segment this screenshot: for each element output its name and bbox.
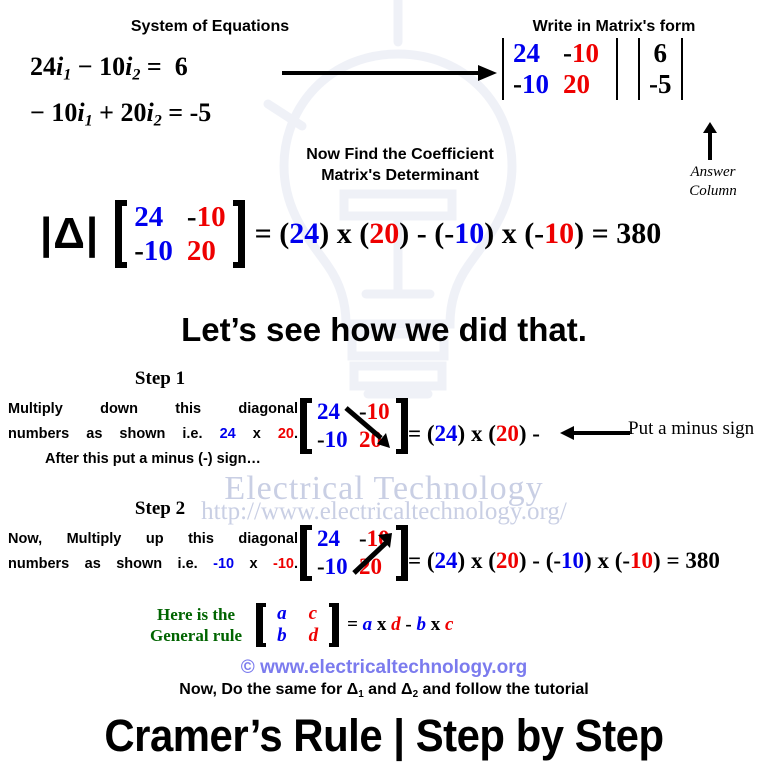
answer-column: 6 -5 [642, 38, 679, 100]
s1-trailing-minus: - [532, 421, 540, 446]
bracket-left [300, 525, 312, 581]
cell-a11: 24 [312, 525, 354, 553]
s1-term2: (20) [488, 421, 526, 446]
step1-line2: numbers as shown i.e. 24 x 20. [8, 422, 298, 447]
eq2-var2: i [146, 98, 153, 127]
s2-term2: (20) [488, 548, 526, 573]
matrix-row: 6 [642, 38, 679, 69]
cell-a22: 20 [354, 553, 396, 581]
coefficient-matrix-top: 24 -10 -10 20 [506, 38, 606, 100]
s2-term4: (-10) [615, 548, 661, 573]
general-rule-label: Here is the General rule [150, 604, 242, 646]
arrow-left-icon [560, 425, 630, 441]
gr-b: b [416, 614, 426, 635]
determinant-matrix: 24 -10 -10 20 [127, 200, 232, 268]
cell-a12-value: 10 [572, 38, 599, 68]
s2-result: 380 [685, 548, 720, 573]
cell-a12: -10 [180, 200, 233, 234]
general-rule-label-line1: Here is the [157, 605, 235, 624]
cell-a12: -10 [556, 38, 606, 69]
s2-term3: (-10) [546, 548, 592, 573]
gr-equals: = [347, 614, 358, 635]
expr-equals2: = [592, 217, 609, 250]
general-rule-group: Here is the General rule a c b d = a x d… [150, 603, 453, 647]
s1-times: x [471, 421, 483, 446]
cell-a12: -10 [354, 525, 396, 553]
expr-term1: (24) [279, 217, 329, 250]
s1-term1: (24) [427, 421, 465, 446]
matrix-row: -10 20 [127, 234, 232, 268]
expr-equals: = [255, 217, 272, 250]
bracket-right [396, 525, 408, 581]
answer-column-label: Answer Column [658, 163, 768, 201]
eq1-coeff1: 24 [30, 52, 56, 81]
cell-a11: 24 [127, 200, 180, 234]
matrix-row: -10 20 [312, 553, 396, 581]
s2-term1: (24) [427, 548, 465, 573]
matrix-row: -10 20 [312, 426, 396, 454]
bracket-left [300, 398, 312, 454]
cell-a21: -10 [127, 234, 180, 268]
infographic-canvas: Electrical Technology http://www.electri… [0, 0, 768, 770]
answer-b2: -5 [642, 69, 679, 100]
determinant-equation: |Δ| 24 -10 -10 20 = (24) x (20) - (-10) … [40, 200, 661, 268]
matrix-row: -5 [642, 69, 679, 100]
bracket-left [115, 200, 127, 268]
step1-description: Multiply down this diagonal numbers as s… [8, 397, 298, 472]
step2-title: Step 2 [40, 498, 280, 520]
expr-times1: x [337, 217, 352, 250]
answer-bar-right [681, 38, 683, 100]
cell-b: b [266, 625, 298, 647]
cell-a21: -10 [506, 69, 556, 100]
eq1-rhs: 6 [175, 52, 188, 81]
general-rule-equation: = a x d - b x c [347, 614, 453, 636]
gr-d: d [391, 614, 401, 635]
step2-line1: Now, Multiply up this diagonal [8, 527, 298, 552]
arrow-up-icon [700, 122, 720, 160]
expr-term4: (-10) [524, 217, 584, 250]
eq2-coeff2: 20 [120, 98, 146, 127]
eq2-coeff1: 10 [51, 98, 77, 127]
matrix-row: 24 -10 [312, 398, 396, 426]
bracket-right [329, 603, 339, 647]
eq2-lead-sign: − [30, 98, 45, 127]
expr-minus: - [417, 217, 427, 250]
s1-equals: = [408, 421, 421, 446]
step1-equation: = (24) x (20) - [408, 421, 540, 447]
eq1-equals: = [147, 52, 162, 81]
follow-note-part1: Now, Do the same for Δ [179, 681, 358, 698]
step2-line2: numbers as shown i.e. -10 x -10. [8, 552, 298, 577]
matrix-row: 24 -10 [127, 200, 232, 234]
bracket-left [256, 603, 266, 647]
matrix-row: 24 -10 [506, 38, 606, 69]
bracket-right [396, 398, 408, 454]
eq1-coeff2: 10 [99, 52, 125, 81]
find-determinant-line2: Matrix's Determinant [321, 167, 479, 184]
matrix-bar-left [502, 38, 504, 100]
cell-a21: -10 [312, 553, 354, 581]
cell-c: c [298, 603, 330, 625]
gr-a: a [363, 614, 373, 635]
step2-matrix-group: 24 -10 -10 20 [300, 525, 408, 581]
s2-times1: x [471, 548, 483, 573]
step1-title: Step 1 [40, 368, 280, 390]
general-rule-label-line2: General rule [150, 626, 242, 645]
bracket-right [233, 200, 245, 268]
eq2-var1: i [77, 98, 84, 127]
find-determinant-heading: Now Find the Coefficient Matrix's Determ… [200, 144, 600, 186]
matrix-form-group: 24 -10 -10 20 6 -5 [500, 38, 685, 100]
follow-tutorial-note: Now, Do the same for Δ1 and Δ2 and follo… [0, 681, 768, 700]
gr-c: c [445, 614, 453, 635]
eq2-rhs: -5 [190, 98, 212, 127]
eq1-operator: − [78, 52, 93, 81]
cell-a11: 24 [312, 398, 354, 426]
s2-times2: x [597, 548, 609, 573]
follow-note-part3: and follow the tutorial [418, 681, 589, 698]
system-of-equations-heading: System of Equations [0, 18, 420, 36]
cell-a22: 20 [556, 69, 606, 100]
matrix-form-heading: Write in Matrix's form [460, 18, 768, 36]
matrix-row: b d [266, 625, 329, 647]
eq2-sub1: 1 [85, 112, 93, 129]
step1-line3: After this put a minus (-) sign… [8, 447, 298, 472]
step1-matrix: 24 -10 -10 20 [312, 398, 396, 454]
matrix-bar-right [616, 38, 618, 100]
general-rule-matrix: a c b d [266, 603, 329, 647]
s2-minus: - [532, 548, 540, 573]
follow-note-part2: and Δ [364, 681, 413, 698]
eq1-sub2: 2 [132, 67, 140, 84]
step1-line1: Multiply down this diagonal [8, 397, 298, 422]
expr-times2: x [502, 217, 517, 250]
put-minus-sign-note: Put a minus sign [628, 418, 754, 440]
step2-description: Now, Multiply up this diagonal numbers a… [8, 527, 298, 577]
expr-term3: (-10) [434, 217, 494, 250]
equation-row-2: − 10i1 + 20i2 = -5 [30, 94, 330, 140]
cell-a21-value: 10 [522, 69, 549, 99]
eq1-sub1: 1 [63, 67, 71, 84]
determinant-symbol: |Δ| [40, 209, 99, 259]
cell-a11: 24 [506, 38, 556, 69]
eq2-operator: + [99, 98, 114, 127]
lets-see-heading: Let’s see how we did that. [0, 311, 768, 349]
arrow-right-icon [282, 62, 497, 84]
answer-column-label-line2: Column [689, 183, 737, 199]
page-title: Cramer’s Rule | Step by Step [27, 710, 741, 762]
step2-matrix: 24 -10 -10 20 [312, 525, 396, 581]
s2-equals2: = [666, 548, 679, 573]
expr-term2: (20) [359, 217, 409, 250]
determinant-expression: = (24) x (20) - (-10) x (-10) = 380 [255, 217, 662, 251]
answer-b1: 6 [642, 38, 679, 69]
cell-a21: -10 [312, 426, 354, 454]
expr-result: 380 [616, 217, 661, 250]
gr-minus: - [405, 614, 411, 635]
gr-times2: x [431, 614, 441, 635]
answer-column-label-line1: Answer [691, 164, 736, 180]
cell-d: d [298, 625, 330, 647]
eq2-equals: = [168, 98, 183, 127]
matrix-row: -10 20 [506, 69, 606, 100]
step2-equation: = (24) x (20) - (-10) x (-10) = 380 [408, 548, 720, 574]
step1-matrix-group: 24 -10 -10 20 [300, 398, 408, 454]
cell-a22: 20 [180, 234, 233, 268]
find-determinant-line1: Now Find the Coefficient [306, 146, 494, 163]
gr-times1: x [377, 614, 387, 635]
site-credit[interactable]: © www.electricaltechnology.org [0, 657, 768, 679]
matrix-row: a c [266, 603, 329, 625]
answer-bar-left [638, 38, 640, 100]
s2-equals: = [408, 548, 421, 573]
cell-a12: -10 [354, 398, 396, 426]
eq2-sub2: 2 [154, 112, 162, 129]
cell-a22: 20 [354, 426, 396, 454]
cell-a: a [266, 603, 298, 625]
matrix-row: 24 -10 [312, 525, 396, 553]
